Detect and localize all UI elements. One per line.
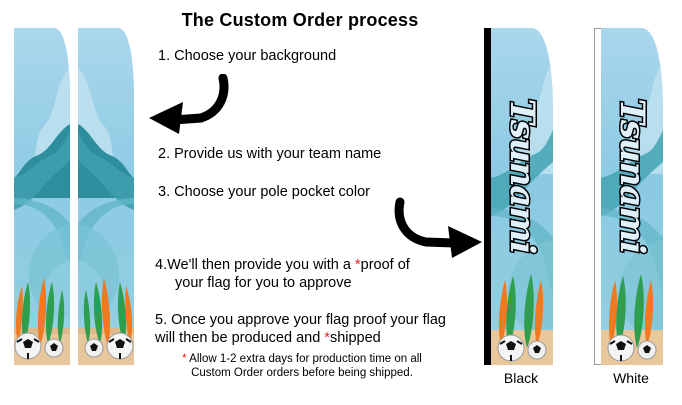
arrow-to-background-icon (143, 74, 233, 141)
page-title: The Custom Order process (150, 10, 450, 31)
footnote-line-1: Allow 1-2 extra days for production time… (187, 353, 422, 365)
step-5-number: 5. (155, 312, 167, 328)
flag-artwork-right (78, 28, 134, 365)
pole-label-black: Black (476, 370, 566, 386)
team-name-wordmark-black: Tsunami (502, 99, 542, 254)
step-5-lead: Once you approve your flag proof your (171, 312, 418, 328)
pole-label-white: White (586, 370, 676, 386)
flag-artwork-left (14, 28, 70, 365)
step-4-number: 4. (155, 257, 167, 273)
wordmark-area-white: Tsunami (601, 75, 663, 277)
sample-flag-right (78, 28, 134, 365)
step-4-continuation: your flag for you to approve (155, 274, 455, 292)
custom-flag-white-pole: Tsunami (601, 28, 663, 365)
step-1-number: 1. (158, 48, 170, 64)
step-2: 2. Provide us with your team name (158, 145, 381, 163)
step-4-lead: We'll then provide you with a (167, 257, 355, 273)
wordmark-area-black: Tsunami (491, 75, 553, 277)
step-3: 3. Choose your pole pocket color (158, 183, 370, 201)
step-2-number: 2. (158, 146, 170, 162)
custom-flag-black-pole: Tsunami (491, 28, 553, 365)
step-5-shipped: shipped (330, 330, 381, 346)
sample-flag-left (14, 28, 70, 365)
step-3-number: 3. (158, 184, 170, 200)
step-1: 1. Choose your background (158, 47, 336, 65)
arrow-to-pole-color-icon (392, 196, 488, 267)
footnote-line-2: Custom Order orders before being shipped… (152, 366, 452, 380)
footnote: * Allow 1-2 extra days for production ti… (152, 352, 452, 380)
custom-order-process-graphic: The Custom Order process 1. Choose your … (0, 0, 682, 405)
team-name-wordmark-white: Tsunami (612, 99, 652, 254)
pole-black (484, 28, 491, 365)
step-1-text: Choose your background (174, 48, 336, 64)
step-3-text: Choose your pole pocket color (174, 184, 370, 200)
step-5: 5. Once you approve your flag proof your… (155, 311, 460, 347)
step-2-text: Provide us with your team name (174, 146, 381, 162)
